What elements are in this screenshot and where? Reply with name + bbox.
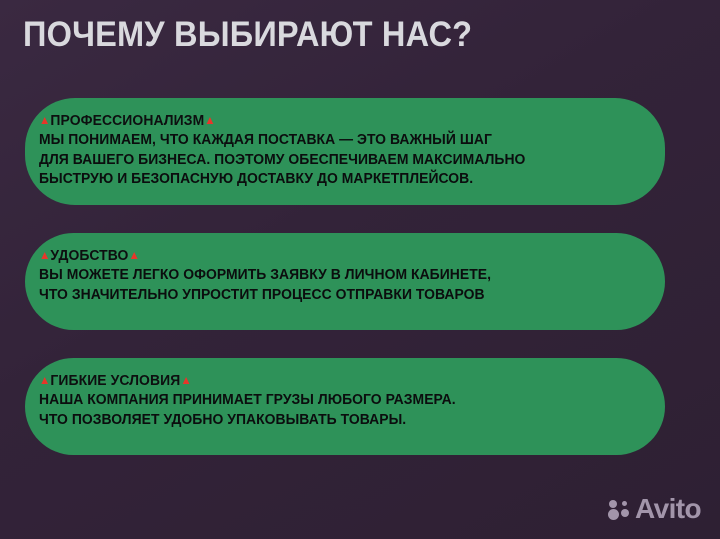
benefit-card-heading: ▲УДОБСТВО▲ — [39, 247, 640, 266]
avito-dot-medium-right — [621, 509, 629, 517]
benefit-card-line: МЫ ПОНИМАЕМ, ЧТО КАЖДАЯ ПОСТАВКА — ЭТО В… — [39, 131, 640, 151]
avito-watermark: Avito — [608, 495, 701, 523]
benefit-card-line: ЧТО ЗНАЧИТЕЛЬНО УПРОСТИТ ПРОЦЕСС ОТПРАВК… — [39, 286, 640, 306]
red-triangle-icon: ▲ — [128, 248, 139, 262]
benefit-card-heading-text: УДОБСТВО — [50, 248, 128, 264]
benefit-card-content: ▲ПРОФЕССИОНАЛИЗМ▲ МЫ ПОНИМАЕМ, ЧТО КАЖДА… — [25, 112, 665, 190]
avito-dots-logo — [608, 498, 631, 521]
red-triangle-icon: ▲ — [39, 373, 50, 387]
red-triangle-icon: ▲ — [204, 113, 215, 127]
promo-slide: ПОЧЕМУ ВЫБИРАЮТ НАС? ▲ПРОФЕССИОНАЛИЗМ▲ М… — [0, 0, 720, 539]
benefit-card: ▲УДОБСТВО▲ ВЫ МОЖЕТЕ ЛЕГКО ОФОРМИТЬ ЗАЯВ… — [25, 233, 665, 330]
avito-dot-small — [622, 501, 627, 506]
benefit-card-content: ▲УДОБСТВО▲ ВЫ МОЖЕТЕ ЛЕГКО ОФОРМИТЬ ЗАЯВ… — [25, 247, 665, 305]
benefit-card: ▲ГИБКИЕ УСЛОВИЯ▲ НАША КОМПАНИЯ ПРИНИМАЕТ… — [25, 358, 665, 455]
avito-dot-medium-top — [609, 500, 617, 508]
benefit-card-line: ДЛЯ ВАШЕГО БИЗНЕСА. ПОЭТОМУ ОБЕСПЕЧИВАЕМ… — [39, 151, 640, 171]
red-triangle-icon: ▲ — [39, 248, 50, 262]
page-title: ПОЧЕМУ ВЫБИРАЮТ НАС? — [23, 14, 637, 56]
benefit-card-line: ВЫ МОЖЕТЕ ЛЕГКО ОФОРМИТЬ ЗАЯВКУ В ЛИЧНОМ… — [39, 266, 640, 286]
benefit-card-heading: ▲ГИБКИЕ УСЛОВИЯ▲ — [39, 372, 640, 391]
red-triangle-icon: ▲ — [39, 113, 50, 127]
benefit-card-line: ЧТО ПОЗВОЛЯЕТ УДОБНО УПАКОВЫВАТЬ ТОВАРЫ. — [39, 411, 640, 431]
avito-wordmark: Avito — [635, 495, 701, 523]
avito-dot-large — [608, 509, 619, 520]
benefit-card-line: БЫСТРУЮ И БЕЗОПАСНУЮ ДОСТАВКУ ДО МАРКЕТП… — [39, 170, 640, 190]
red-triangle-icon: ▲ — [180, 373, 191, 387]
benefit-card-heading: ▲ПРОФЕССИОНАЛИЗМ▲ — [39, 112, 640, 131]
benefit-card-content: ▲ГИБКИЕ УСЛОВИЯ▲ НАША КОМПАНИЯ ПРИНИМАЕТ… — [25, 372, 665, 430]
benefit-card-line: НАША КОМПАНИЯ ПРИНИМАЕТ ГРУЗЫ ЛЮБОГО РАЗ… — [39, 391, 640, 411]
benefit-card-heading-text: ГИБКИЕ УСЛОВИЯ — [50, 373, 180, 389]
benefit-card-heading-text: ПРОФЕССИОНАЛИЗМ — [50, 113, 204, 129]
benefit-card: ▲ПРОФЕССИОНАЛИЗМ▲ МЫ ПОНИМАЕМ, ЧТО КАЖДА… — [25, 98, 665, 205]
